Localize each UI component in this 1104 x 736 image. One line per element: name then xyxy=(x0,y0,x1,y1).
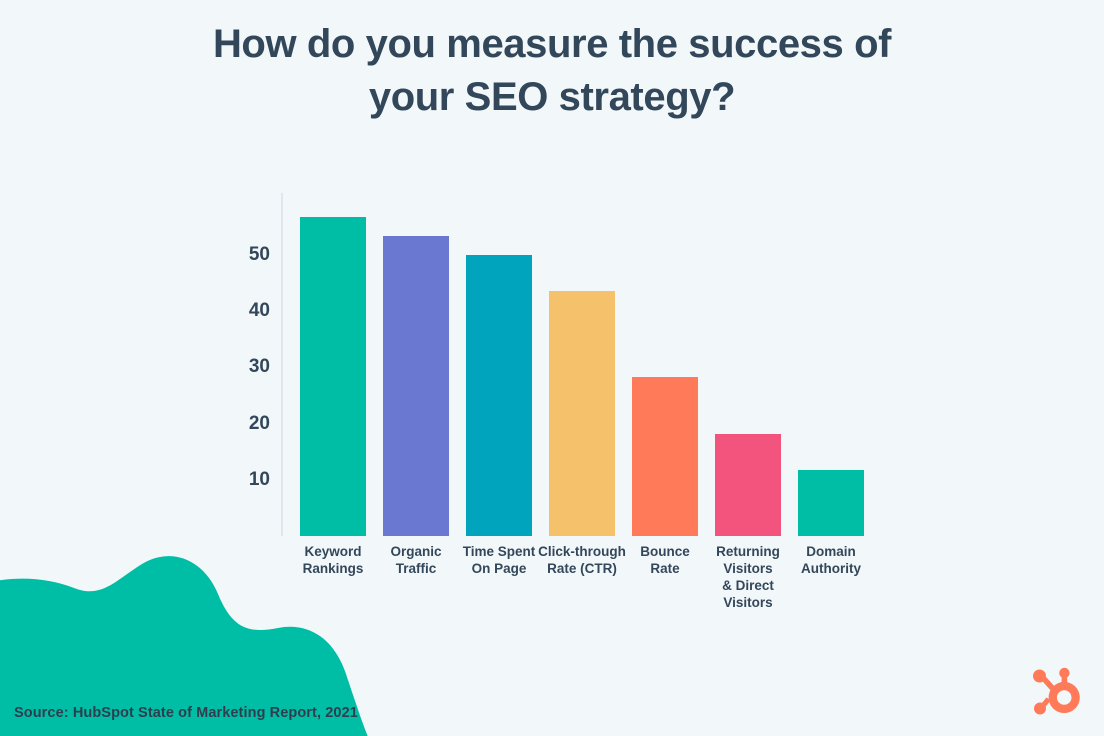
plot-area xyxy=(281,193,881,536)
y-axis-tick-40: 40 xyxy=(210,300,270,322)
y-axis-tick-30: 30 xyxy=(210,356,270,378)
bar-1[interactable] xyxy=(300,217,366,536)
x-axis-tick-7: DomainAuthority xyxy=(776,544,886,578)
bar-2[interactable] xyxy=(383,236,449,536)
x-axis-tick-line: Domain xyxy=(776,544,886,561)
chart-title-line-1: How do you measure the success of xyxy=(0,18,1104,71)
chart-title: How do you measure the success of your S… xyxy=(0,18,1104,124)
bar-4[interactable] xyxy=(549,291,615,536)
bar-3[interactable] xyxy=(466,255,532,536)
chart-canvas: How do you measure the success of your S… xyxy=(0,0,1104,736)
bar-series xyxy=(283,193,881,536)
hubspot-sprocket-logo xyxy=(1031,667,1081,719)
y-axis-tick-20: 20 xyxy=(210,413,270,435)
chart-title-line-2: your SEO strategy? xyxy=(0,71,1104,124)
x-axis-tick-line: Authority xyxy=(776,561,886,578)
y-axis-tick-50: 50 xyxy=(210,244,270,266)
y-axis-tick-10: 10 xyxy=(210,469,270,491)
bar-6[interactable] xyxy=(715,434,781,536)
x-axis-tick-line: & Direct xyxy=(693,578,803,595)
bar-7[interactable] xyxy=(798,470,864,536)
y-axis-tick-labels: 1020304050 xyxy=(210,0,270,736)
bar-5[interactable] xyxy=(632,377,698,536)
x-axis-tick-labels: KeywordRankingsOrganicTrafficTime SpentO… xyxy=(283,544,883,634)
x-axis-tick-line: Visitors xyxy=(693,595,803,612)
source-caption: Source: HubSpot State of Marketing Repor… xyxy=(14,705,358,721)
